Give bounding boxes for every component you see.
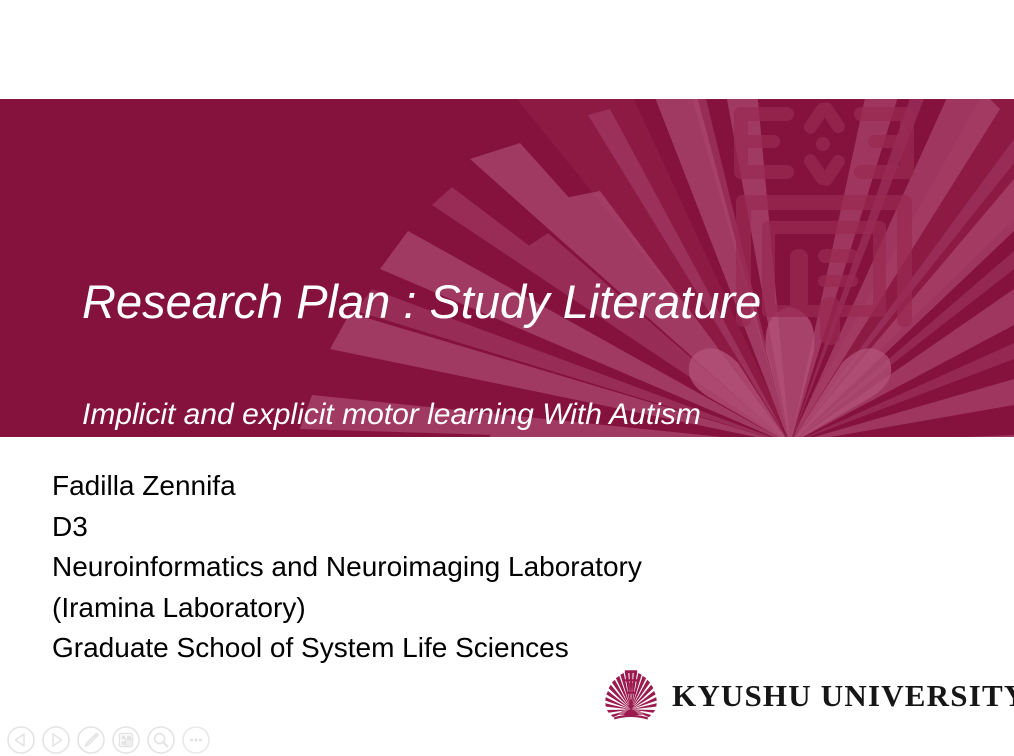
zoom-button[interactable]	[146, 725, 176, 755]
title-block: Research Plan : Study Literature	[82, 275, 962, 329]
grid-windows-icon	[111, 725, 141, 755]
kyushu-university-logo: KYUSHU UNIVERSITY	[602, 666, 982, 726]
magnifier-icon	[146, 725, 176, 755]
kyushu-fan-sunburst-decoration	[0, 99, 1014, 437]
slide-overview-button[interactable]	[111, 725, 141, 755]
presentation-slide: Research Plan : Study Literature Implici…	[0, 0, 1014, 756]
subtitle-block: Implicit and explicit motor learning Wit…	[82, 393, 882, 437]
triangle-left-icon	[6, 725, 36, 755]
kyushu-sunburst-mark-icon	[602, 668, 660, 724]
ellipsis-icon	[181, 725, 211, 755]
previous-slide-button[interactable]	[6, 725, 36, 755]
triangle-right-icon	[41, 725, 71, 755]
next-slide-button[interactable]	[41, 725, 71, 755]
author-affiliation-block: Fadilla Zennifa D3 Neuroinformatics and …	[52, 466, 912, 669]
subtitle-line-2: Spectrum Disorder	[82, 436, 882, 437]
slide-title: Research Plan : Study Literature	[82, 275, 962, 329]
program-year: D3	[52, 507, 912, 548]
pen-icon	[76, 725, 106, 755]
presentation-toolbar	[0, 724, 1014, 756]
kyushu-university-wordmark: KYUSHU UNIVERSITY	[672, 678, 1014, 714]
laboratory-subname: (Iramina Laboratory)	[52, 588, 912, 629]
graduate-school-name: Graduate School of System Life Sciences	[52, 628, 912, 669]
author-name: Fadilla Zennifa	[52, 466, 912, 507]
title-banner: Research Plan : Study Literature Implici…	[0, 99, 1014, 437]
annotate-button[interactable]	[76, 725, 106, 755]
subtitle-line-1: Implicit and explicit motor learning Wit…	[82, 393, 882, 436]
laboratory-name: Neuroinformatics and Neuroimaging Labora…	[52, 547, 912, 588]
more-options-button[interactable]	[181, 725, 211, 755]
